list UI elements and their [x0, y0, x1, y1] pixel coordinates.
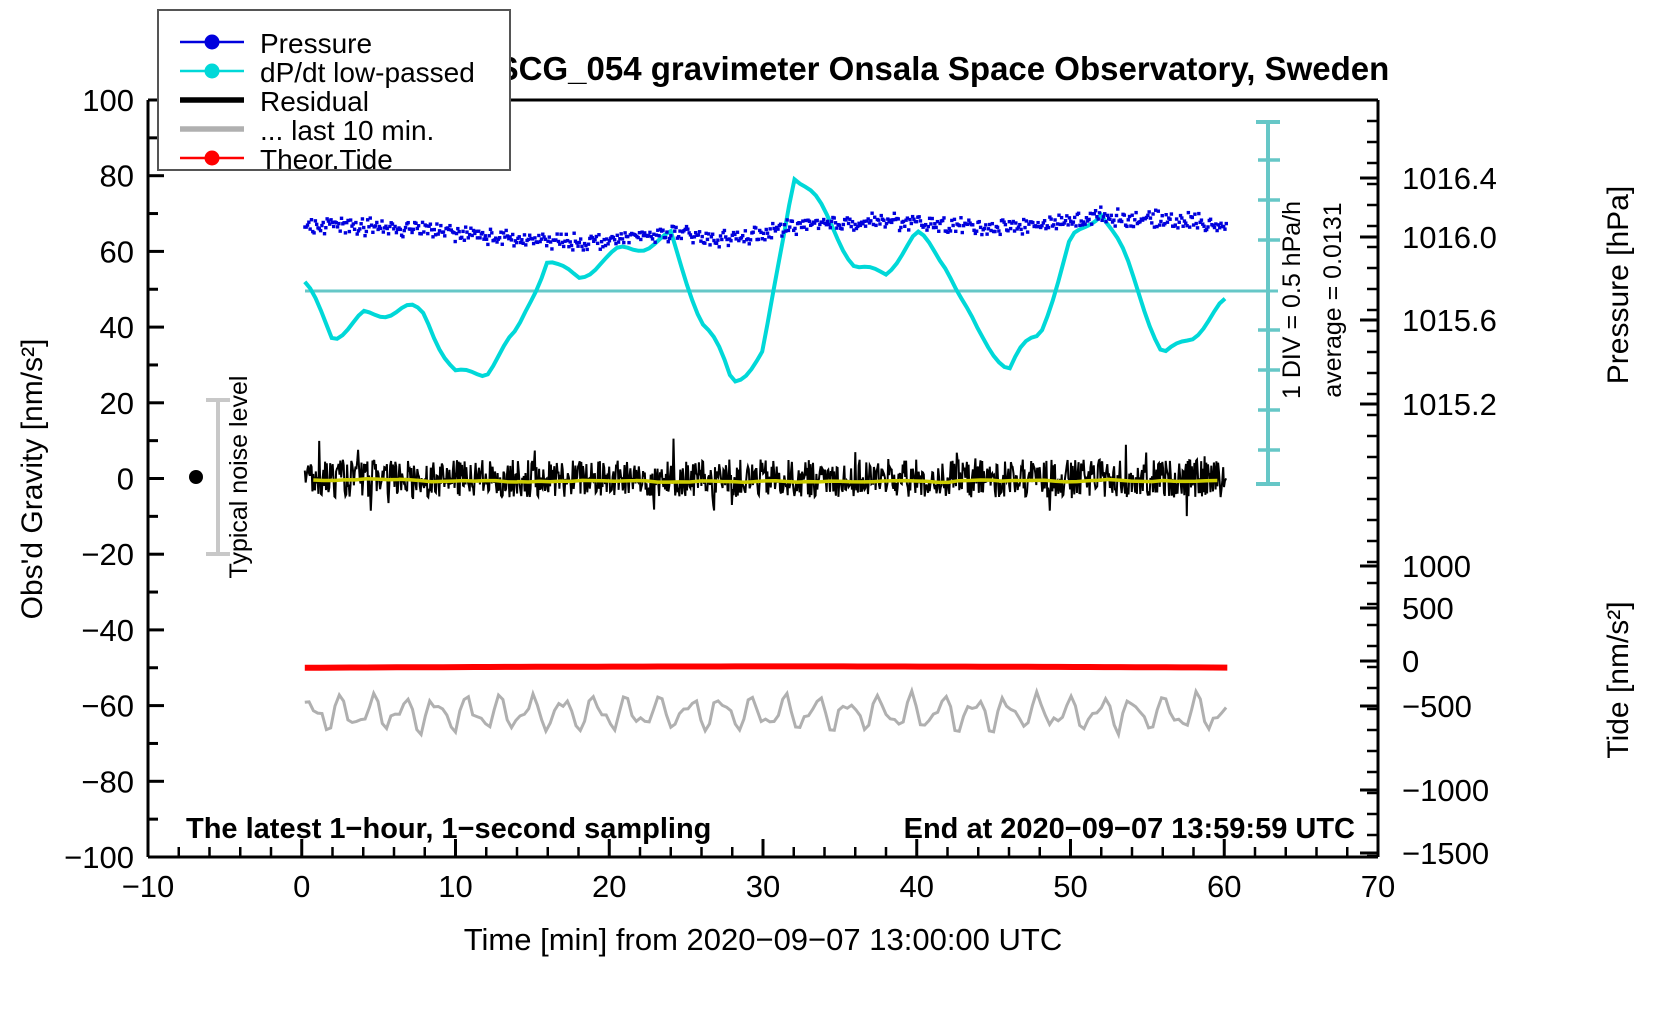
- left-tick-label: 60: [100, 234, 134, 269]
- right-pressure-tick-label: 1016.0: [1402, 220, 1497, 255]
- right-tide-axis-label: Tide [nm/s²]: [1602, 601, 1635, 758]
- right-tide-tick-label: −1500: [1402, 836, 1489, 871]
- bottom-tick-label: 10: [438, 869, 472, 904]
- left-tick-label: −40: [81, 613, 134, 648]
- bottom-tick-label: 60: [1207, 869, 1241, 904]
- left-tick-label: −80: [81, 764, 134, 799]
- right-tide-tick-label: −1000: [1402, 773, 1489, 808]
- right-pressure-tick-label: 1015.6: [1402, 303, 1497, 338]
- bottom-tick-label: −10: [122, 869, 175, 904]
- left-tick-label: 80: [100, 159, 134, 194]
- legend-label: Theor.Tide: [260, 144, 393, 175]
- footer-left: The latest 1−hour, 1−second sampling: [186, 813, 711, 845]
- right-tide-tick-label: −500: [1402, 689, 1472, 724]
- x-axis-label: Time [min] from 2020−09−07 13:00:00 UTC: [464, 922, 1063, 957]
- legend-label: Residual: [260, 86, 369, 117]
- right-tide-tick-label: 1000: [1402, 549, 1471, 584]
- right-pressure-axis-label: Pressure [hPa]: [1602, 186, 1635, 384]
- dpdt-div-label: 1 DIV = 0.5 hPa/h: [1278, 201, 1306, 399]
- footer-right: End at 2020−09−07 13:59:59 UTC: [904, 813, 1355, 845]
- legend-marker: [205, 64, 220, 79]
- bottom-tick-label: 30: [746, 869, 780, 904]
- theoretical-tide-line: [305, 666, 1228, 667]
- legend-marker: [205, 35, 220, 50]
- noise-label: Typical noise level: [225, 376, 253, 579]
- right-tide-tick-label: 500: [1402, 591, 1454, 626]
- left-tick-label: 20: [100, 386, 134, 421]
- left-tick-label: 0: [117, 462, 134, 497]
- bottom-tick-label: 0: [293, 869, 310, 904]
- legend: PressuredP/dt low-passedResidual... last…: [158, 10, 510, 175]
- page-title: SCG_054 gravimeter Onsala Space Observat…: [497, 50, 1390, 87]
- left-tick-label: 100: [82, 83, 134, 118]
- legend-label: Pressure: [260, 28, 372, 59]
- gravimeter-chart: 100806040200−20−40−60−80−100 Obs'd Gravi…: [0, 0, 1660, 1020]
- bottom-tick-label: 50: [1053, 869, 1087, 904]
- legend-label: dP/dt low-passed: [260, 57, 475, 88]
- left-tick-label: −60: [81, 689, 134, 724]
- left-tick-label: 40: [100, 310, 134, 345]
- dpdt-average-label: average = 0.0131: [1319, 202, 1347, 397]
- right-pressure-tick-label: 1016.4: [1402, 161, 1497, 196]
- left-tick-label: −20: [81, 537, 134, 572]
- bottom-tick-label: 70: [1361, 869, 1395, 904]
- bottom-tick-label: 20: [592, 869, 626, 904]
- right-pressure-tick-label: 1015.2: [1402, 387, 1497, 422]
- legend-label: ... last 10 min.: [260, 115, 434, 146]
- right-tide-tick-label: 0: [1402, 644, 1419, 679]
- left-axis-label: Obs'd Gravity [nm/s²]: [16, 339, 49, 620]
- legend-marker: [205, 151, 220, 166]
- bottom-tick-label: 40: [900, 869, 934, 904]
